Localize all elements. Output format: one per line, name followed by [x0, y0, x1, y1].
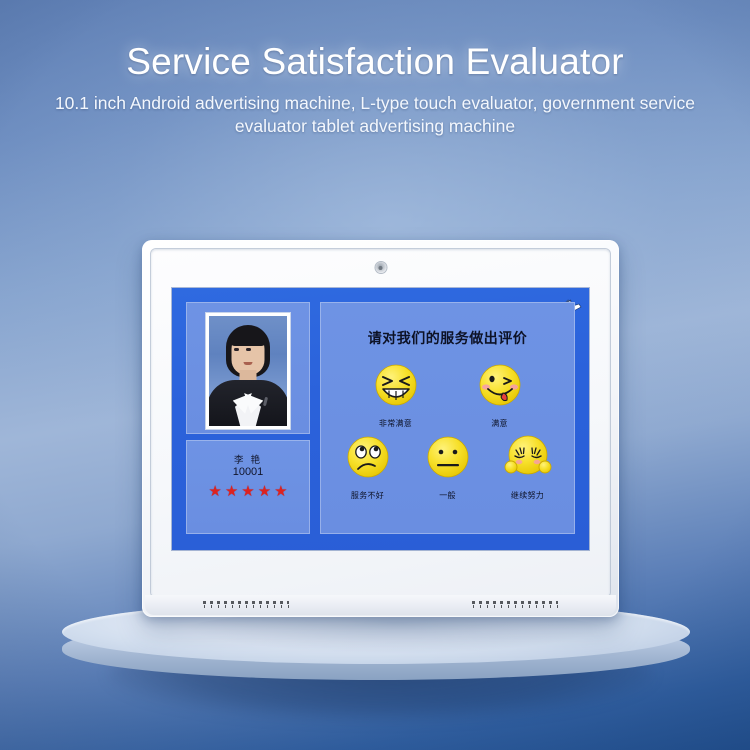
tablet-bottom-lip	[145, 595, 616, 615]
user-id: 10001	[186, 466, 310, 478]
rating-option-very-satisfied[interactable]: 非常满意	[368, 360, 424, 429]
rating-options-row-top: 非常满意	[320, 360, 575, 429]
photo-panel	[186, 302, 310, 434]
portrait-fringe	[229, 329, 267, 346]
rating-option-bad-service[interactable]: 服务不好	[340, 432, 396, 501]
rating-panel: 请对我们的服务做出评价 非常满意	[320, 302, 575, 534]
neutral-face-icon	[423, 432, 473, 482]
rating-option-satisfied[interactable]: 满意	[472, 360, 528, 429]
rating-option-label: 一般	[420, 490, 476, 501]
speaker-grille-icon	[203, 601, 289, 608]
rating-option-label: 满意	[472, 418, 528, 429]
rating-option-label: 服务不好	[340, 490, 396, 501]
rating-star-icon: ★	[274, 484, 287, 499]
cheering-fists-face-icon	[503, 432, 553, 482]
promo-header: Service Satisfaction Evaluator 10.1 inch…	[0, 0, 750, 138]
rating-prompt: 请对我们的服务做出评价	[320, 328, 575, 348]
portrait-photo-frame	[206, 313, 290, 429]
tablet-screen[interactable]: 李 艳 10001 ★★★★★ 请对我们的服务做出评价	[172, 288, 589, 550]
rating-options-row-bottom: 服务不好 一般	[320, 432, 575, 501]
front-camera-icon	[375, 262, 386, 273]
user-name: 李 艳	[186, 452, 310, 466]
rating-star-icon: ★	[225, 484, 238, 499]
page-title: Service Satisfaction Evaluator	[0, 0, 750, 82]
user-info-panel: 李 艳 10001 ★★★★★	[186, 440, 310, 534]
rating-stars: ★★★★★	[186, 484, 310, 500]
winking-tongue-face-icon	[475, 360, 525, 410]
page-subtitle: 10.1 inch Android advertising machine, L…	[25, 92, 725, 138]
portrait-eye	[234, 348, 239, 351]
rating-option-label: 继续努力	[500, 490, 556, 501]
product-promo-image: Service Satisfaction Evaluator 10.1 inch…	[0, 0, 750, 750]
rating-star-icon: ★	[208, 484, 221, 499]
speaker-grille-icon	[472, 601, 558, 608]
rating-option-average[interactable]: 一般	[420, 432, 476, 501]
grinning-squint-face-icon	[371, 360, 421, 410]
portrait-eye	[246, 348, 251, 351]
rating-star-icon: ★	[258, 484, 271, 499]
portrait-photo-icon	[209, 316, 287, 426]
frowning-rolling-eyes-face-icon	[343, 432, 393, 482]
rating-option-keep-trying[interactable]: 继续努力	[500, 432, 556, 501]
tablet-device: 李 艳 10001 ★★★★★ 请对我们的服务做出评价	[142, 240, 619, 617]
rating-option-label: 非常满意	[368, 418, 424, 429]
rating-star-icon: ★	[241, 484, 254, 499]
